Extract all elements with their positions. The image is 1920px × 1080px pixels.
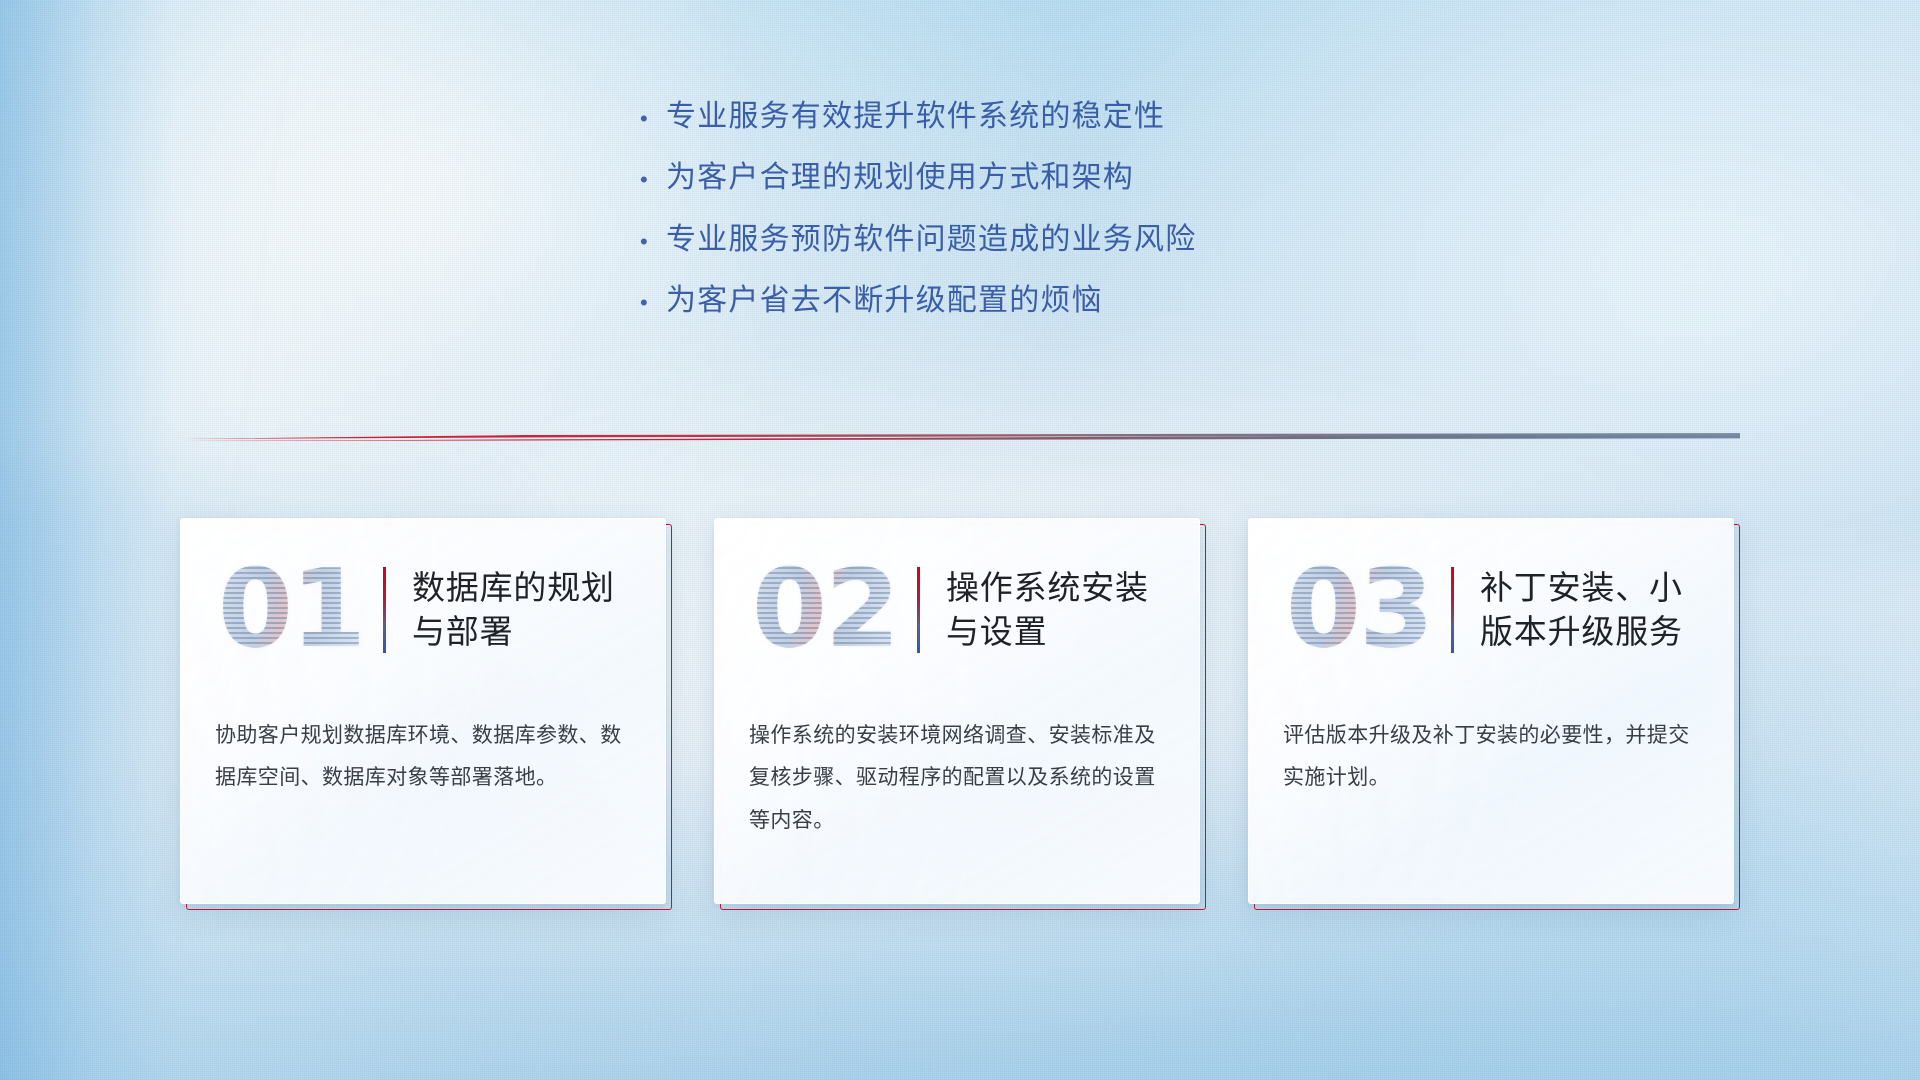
card-title-separator — [917, 567, 920, 653]
card-number-badge: 01 01 — [203, 550, 379, 670]
bullet-item: • 为客户省去不断升级配置的烦恼 — [640, 282, 1196, 320]
bullet-item: • 专业服务预防软件问题造成的业务风险 — [640, 221, 1196, 259]
card-title: 数据库的规划与部署 — [412, 566, 644, 654]
bullet-dot-icon: • — [640, 292, 666, 314]
card-description: 操作系统的安装环境网络调查、安装标准及复核步骤、驱动程序的配置以及系统的设置等内… — [749, 715, 1169, 842]
bullet-dot-icon: • — [640, 108, 666, 130]
bullet-item-label: 专业服务有效提升软件系统的稳定性 — [666, 98, 1165, 136]
card-number-label: 01 — [218, 556, 364, 664]
card-header: 01 01 数据库的规划与部署 — [181, 519, 665, 701]
bullet-item-label: 专业服务预防软件问题造成的业务风险 — [666, 221, 1196, 259]
service-card[interactable]: 01 01 数据库的规划与部署 协助客户规划数据库环境、数据库参数、数据库空间、… — [180, 518, 672, 910]
card-header: 03 03 补丁安装、小版本升级服务 — [1249, 519, 1733, 701]
card-description: 评估版本升级及补丁安装的必要性，并提交实施计划。 — [1283, 715, 1703, 800]
card-title-separator — [383, 567, 386, 653]
card-title-separator — [1451, 567, 1454, 653]
card-number-badge: 03 03 — [1271, 550, 1447, 670]
service-card[interactable]: 02 02 操作系统安装与设置 操作系统的安装环境网络调查、安装标准及复核步骤、… — [714, 518, 1206, 910]
bullet-item: • 专业服务有效提升软件系统的稳定性 — [640, 98, 1196, 136]
bullet-item-label: 为客户省去不断升级配置的烦恼 — [666, 282, 1103, 320]
card-title: 操作系统安装与设置 — [946, 566, 1178, 654]
bullet-item: • 为客户合理的规划使用方式和架构 — [640, 159, 1196, 197]
card-title: 补丁安装、小版本升级服务 — [1480, 566, 1712, 654]
bullet-item-label: 为客户合理的规划使用方式和架构 — [666, 159, 1134, 197]
card-surface: 02 02 操作系统安装与设置 操作系统的安装环境网络调查、安装标准及复核步骤、… — [714, 518, 1200, 904]
card-header: 02 02 操作系统安装与设置 — [715, 519, 1199, 701]
service-card[interactable]: 03 03 补丁安装、小版本升级服务 评估版本升级及补丁安装的必要性，并提交实施… — [1248, 518, 1740, 910]
card-description: 协助客户规划数据库环境、数据库参数、数据库空间、数据库对象等部署落地。 — [215, 715, 635, 800]
card-surface: 01 01 数据库的规划与部署 协助客户规划数据库环境、数据库参数、数据库空间、… — [180, 518, 666, 904]
service-card-list: 01 01 数据库的规划与部署 协助客户规划数据库环境、数据库参数、数据库空间、… — [180, 518, 1740, 918]
card-number-label: 02 — [752, 556, 898, 664]
benefits-bullet-list: • 专业服务有效提升软件系统的稳定性 • 为客户合理的规划使用方式和架构 • 专… — [640, 98, 1196, 344]
bullet-dot-icon: • — [640, 231, 666, 253]
card-number-label: 03 — [1286, 556, 1432, 664]
card-number-badge: 02 02 — [737, 550, 913, 670]
section-divider — [180, 428, 1740, 444]
card-surface: 03 03 补丁安装、小版本升级服务 评估版本升级及补丁安装的必要性，并提交实施… — [1248, 518, 1734, 904]
bullet-dot-icon: • — [640, 169, 666, 191]
